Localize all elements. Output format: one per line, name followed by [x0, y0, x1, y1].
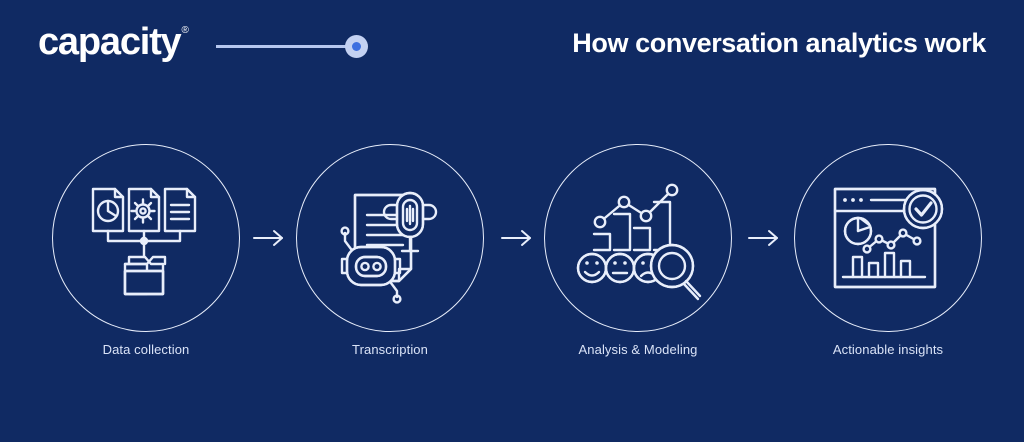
text-lines-document [165, 189, 195, 231]
arrow-right-icon [250, 225, 290, 251]
arrow-right-icon [745, 225, 785, 251]
step-actionable-insights[interactable]: Actionable insights [788, 130, 988, 380]
dot-inner-core [352, 42, 361, 51]
pie-chart-document [93, 189, 123, 231]
infographic-canvas: capacity ® How conversation analytics wo… [0, 0, 1024, 442]
step-label: Data collection [46, 342, 246, 357]
dashboard-checkmark-icon [794, 144, 982, 332]
check-circle-badge [904, 190, 942, 228]
logo-wordmark: capacity [38, 23, 181, 61]
page-title: How conversation analytics work [572, 28, 986, 59]
gear-document [129, 189, 159, 231]
step-analysis-modeling[interactable]: Analysis & Modeling [538, 130, 738, 380]
horizontal-rule [216, 45, 352, 48]
arrow-right-icon [498, 225, 538, 251]
sentiment-faces [578, 254, 662, 282]
step-label: Transcription [290, 342, 490, 357]
registered-trademark-icon: ® [182, 25, 189, 37]
line-with-dot-icon [216, 35, 368, 59]
documents-to-folder-icon [52, 144, 240, 332]
capacity-logo[interactable]: capacity ® [38, 23, 189, 61]
step-label: Analysis & Modeling [538, 342, 738, 357]
neutral-face [606, 254, 634, 282]
connector-bracket [108, 231, 180, 257]
header: capacity ® How conversation analytics wo… [0, 0, 1024, 92]
process-flow: Data collection [0, 130, 1024, 380]
trend-line-with-nodes [595, 185, 677, 227]
step-label: Actionable insights [788, 342, 988, 357]
magnifying-glass [651, 245, 700, 299]
step-transcription[interactable]: Transcription [290, 130, 490, 380]
happy-face [578, 254, 606, 282]
bar-chart [594, 202, 670, 250]
dot-outer-ring [345, 35, 368, 58]
bar-chart-sentiment-magnifier-icon [544, 144, 732, 332]
step-data-collection[interactable]: Data collection [46, 130, 246, 380]
folder [125, 257, 165, 294]
pie-chart [845, 218, 871, 244]
document-microphone-robot-icon [296, 144, 484, 332]
